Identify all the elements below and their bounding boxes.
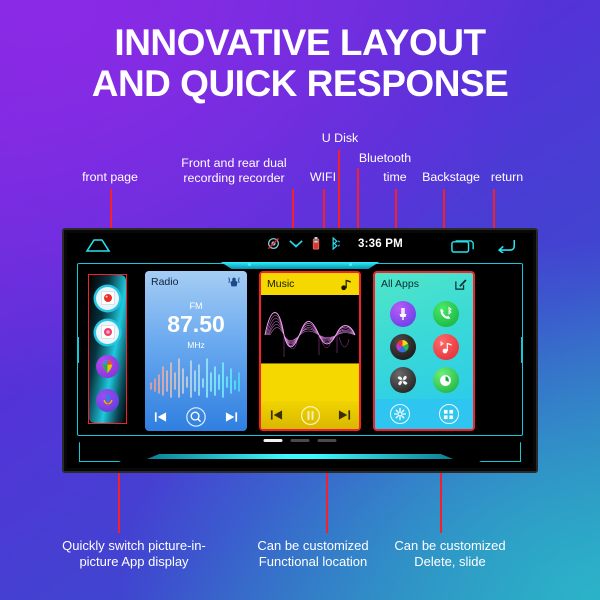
deco-corner-right xyxy=(479,442,521,462)
radio-unit: MHz xyxy=(145,340,247,350)
next-track-icon[interactable] xyxy=(225,411,238,423)
wifi-icon[interactable] xyxy=(289,238,303,249)
desktop-deco-bottom xyxy=(79,440,521,462)
status-icons-group: 3:36 PM xyxy=(267,237,403,250)
device-screen: 3:36 PM xyxy=(67,233,533,468)
gear-icon[interactable] xyxy=(390,404,410,424)
music-info-area xyxy=(261,363,359,401)
radio-band: FM xyxy=(145,301,247,311)
page-indicator[interactable] xyxy=(264,439,337,442)
music-visualizer xyxy=(261,295,359,363)
app-bt-music[interactable] xyxy=(433,334,459,360)
radio-controls xyxy=(145,403,247,431)
bluetooth-icon[interactable] xyxy=(329,237,341,250)
page-dot-3[interactable] xyxy=(318,439,337,442)
music-panel-title: Music xyxy=(267,278,294,290)
music-panel[interactable]: Music xyxy=(259,271,361,431)
page-title: INNOVATIVE LAYOUT AND QUICK RESPONSE xyxy=(0,22,600,105)
callout-wifi: WIFI xyxy=(303,170,343,185)
rail-app-1[interactable] xyxy=(96,287,119,310)
pointer-front-page xyxy=(110,189,112,231)
music-controls xyxy=(261,401,359,429)
radio-panel-body: FM 87.50 MHz xyxy=(145,293,247,403)
page-dot-2[interactable] xyxy=(291,439,310,442)
home-icon[interactable] xyxy=(85,237,111,253)
callout-recorder: Front and rear dual recording recorder xyxy=(168,156,300,186)
status-time: 3:36 PM xyxy=(358,238,403,250)
car-head-unit-device: 3:36 PM xyxy=(62,228,538,473)
grid-icon[interactable] xyxy=(439,404,459,424)
edit-icon[interactable] xyxy=(455,278,467,290)
search-icon[interactable] xyxy=(185,406,207,428)
headline-line-2: AND QUICK RESPONSE xyxy=(0,63,600,104)
pointer-functional xyxy=(326,473,328,533)
callout-pip: Quickly switch picture-in- picture App d… xyxy=(48,538,220,570)
callout-bluetooth: Bluetooth xyxy=(346,151,424,166)
deco-bottom-bar xyxy=(147,454,453,459)
backstage-icon[interactable] xyxy=(451,238,475,253)
deco-side-right xyxy=(521,337,524,363)
panel-row: Radio FM 87.50 MHz xyxy=(137,271,521,431)
pointer-udisk xyxy=(338,150,340,235)
radio-panel-header: Radio xyxy=(145,271,247,293)
rail-app-2[interactable] xyxy=(96,321,119,344)
pointer-bluetooth xyxy=(357,168,359,235)
callout-return: return xyxy=(483,170,531,185)
return-icon[interactable] xyxy=(495,237,517,253)
app-clock[interactable] xyxy=(433,367,459,393)
usb-disk-icon[interactable] xyxy=(312,237,320,250)
recorder-muted-icon[interactable] xyxy=(267,237,280,250)
callout-backstage: Backstage xyxy=(418,170,484,185)
deco-corner-left xyxy=(79,442,121,462)
next-track-icon[interactable] xyxy=(338,409,351,421)
all-apps-bottom-bar xyxy=(375,399,473,429)
all-apps-header: All Apps xyxy=(375,273,473,295)
deco-dot-right xyxy=(349,263,352,266)
app-fan[interactable] xyxy=(390,367,416,393)
rail-app-4[interactable] xyxy=(96,389,119,412)
radio-frequency: 87.50 xyxy=(145,313,247,336)
pointer-delete xyxy=(440,473,442,533)
radio-waveform xyxy=(145,353,247,401)
radio-panel-title: Radio xyxy=(151,276,178,288)
prev-track-icon[interactable] xyxy=(270,409,283,421)
callout-delete: Can be customized Delete, slide xyxy=(385,538,515,570)
app-colorwheel[interactable] xyxy=(390,334,416,360)
headline-line-1: INNOVATIVE LAYOUT xyxy=(114,22,485,63)
callout-time: time xyxy=(372,170,418,185)
page-dot-1[interactable] xyxy=(264,439,283,442)
all-apps-panel[interactable]: All Apps xyxy=(373,271,475,431)
music-panel-header: Music xyxy=(261,273,359,295)
deco-dot-left xyxy=(248,263,251,266)
music-note-icon xyxy=(340,278,353,291)
status-bar: 3:36 PM xyxy=(67,233,533,259)
radio-tower-icon xyxy=(227,275,241,289)
callout-functional: Can be customized Functional location xyxy=(248,538,378,570)
prev-track-icon[interactable] xyxy=(154,411,167,423)
all-apps-body xyxy=(375,295,473,399)
pip-app-rail[interactable] xyxy=(89,275,126,423)
app-bt-phone[interactable] xyxy=(433,301,459,327)
callout-front-page: front page xyxy=(60,170,160,185)
rail-app-3[interactable] xyxy=(96,355,119,378)
all-apps-grid xyxy=(381,297,467,397)
all-apps-title: All Apps xyxy=(381,278,419,290)
settings-button[interactable] xyxy=(375,399,424,429)
callout-udisk: U Disk xyxy=(310,131,370,146)
app-grid-button[interactable] xyxy=(424,399,473,429)
deco-notch xyxy=(210,262,390,269)
pause-icon[interactable] xyxy=(300,405,321,426)
deco-side-left xyxy=(77,337,80,363)
app-theme[interactable] xyxy=(390,301,416,327)
radio-panel[interactable]: Radio FM 87.50 MHz xyxy=(145,271,247,431)
pointer-pip xyxy=(118,473,120,533)
